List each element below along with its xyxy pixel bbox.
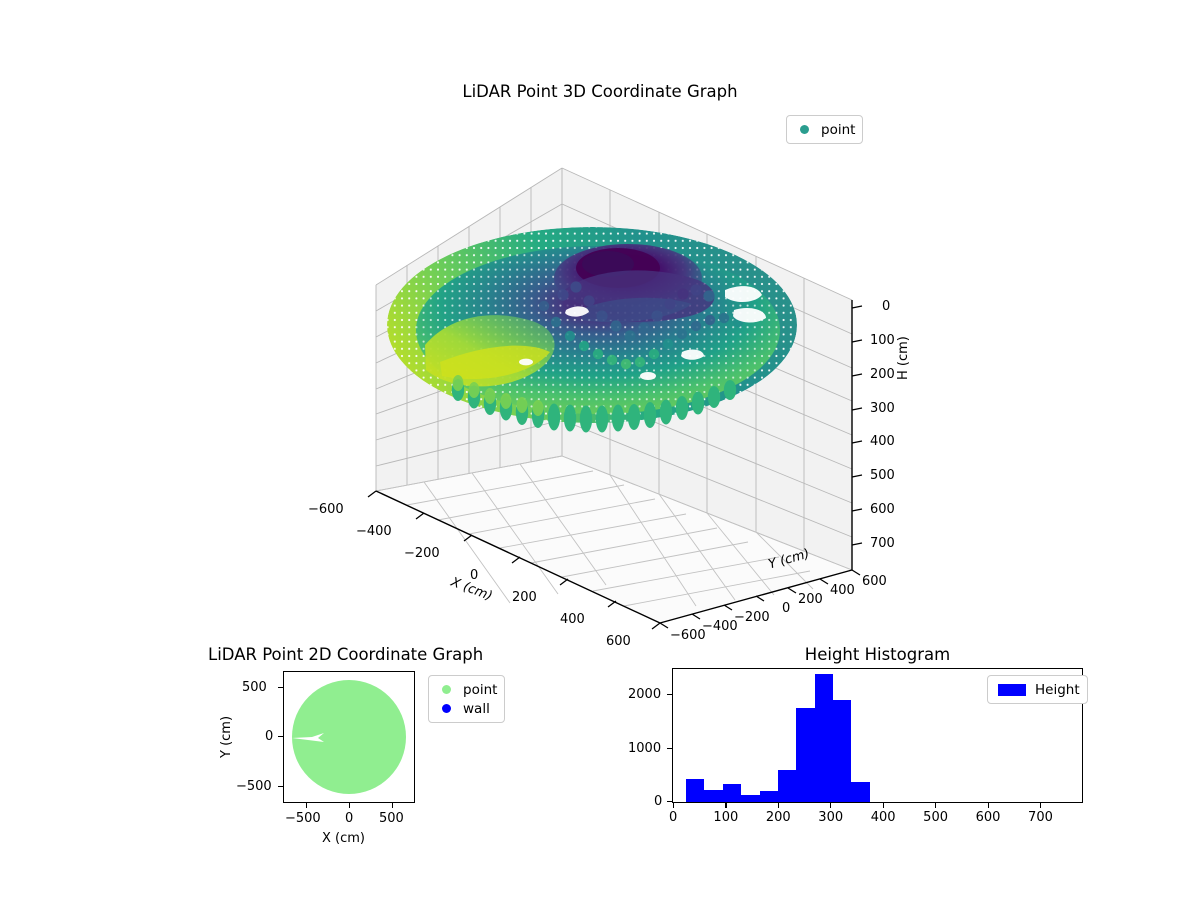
histogram-x-tickmark (988, 803, 989, 808)
histogram-y-tick-label-0: 0 (654, 794, 662, 809)
legend-item-point-2d: point (436, 680, 497, 699)
plot3d-axes[interactable]: −600 −400 −200 0 200 400 600 X (cm) −600… (330, 140, 930, 620)
histogram-bar (815, 674, 833, 802)
z-tick-label-4: 400 (870, 434, 895, 449)
histogram-x-tickmark (725, 803, 726, 808)
histogram-x-tickmark (883, 803, 884, 808)
y-tick-label-0: −600 (670, 628, 706, 643)
y-tick-label-5: 400 (830, 583, 855, 598)
plot2d-axes[interactable] (283, 671, 415, 803)
z-axis-label: H (cm) (896, 336, 911, 380)
histogram-x-tickmark (673, 803, 674, 808)
histogram-x-tick-label: 0 (669, 810, 677, 825)
histogram-x-tick-label: 200 (766, 810, 791, 825)
histogram-x-tick-label: 500 (923, 810, 948, 825)
z-tick-label-3: 300 (870, 401, 895, 416)
histogram-y-tick-label-2: 2000 (628, 687, 661, 702)
plot2d-x-tick-label-2: 500 (379, 811, 404, 826)
plot2d-x-axis-label: X (cm) (322, 831, 365, 846)
plot2d-canvas (284, 672, 414, 802)
histogram-bar (833, 700, 851, 802)
histogram-x-tick-label: 600 (976, 810, 1001, 825)
histogram-x-tickmark (935, 803, 936, 808)
histogram-bar (723, 784, 741, 802)
plot2d-y-tick-label-1: 0 (265, 729, 273, 744)
histogram-x-tick-label: 100 (713, 810, 738, 825)
legend-label-point: point (463, 682, 497, 698)
x-tick-label-2: −200 (404, 546, 440, 561)
plot2d-x-tick-label-0: −500 (285, 811, 321, 826)
z-ticks-3d (852, 306, 862, 545)
z-tick-label-7: 700 (870, 536, 895, 551)
z-tick-label-6: 600 (870, 502, 895, 517)
z-tick-label-2: 200 (870, 367, 895, 382)
legend-marker-point-icon (800, 125, 809, 134)
histogram-bar (760, 791, 778, 802)
y-tick-label-1: −400 (702, 619, 738, 634)
y-tick-label-4: 200 (798, 592, 823, 607)
histogram-bar (741, 795, 759, 802)
legend-label-point: point (821, 122, 855, 138)
histogram-bar (704, 790, 722, 802)
legend-marker-wall-icon (442, 704, 451, 713)
plot2d-y-tick-label-2: 500 (242, 680, 267, 695)
histogram-x-tick-label: 400 (871, 810, 896, 825)
legend-marker-point-icon (442, 685, 451, 694)
legend-label-wall: wall (463, 701, 490, 717)
plot2d-plot-area (284, 672, 414, 802)
plot2d-x-tick-label-1: 0 (345, 811, 353, 826)
y-tick-label-2: −200 (734, 610, 770, 625)
x-tick-label-6: 600 (606, 634, 631, 649)
histogram-y-tick-label-1: 1000 (628, 741, 661, 756)
y-tick-label-3: 0 (782, 601, 790, 616)
histogram-bar (778, 770, 796, 802)
histogram-bar (851, 782, 869, 802)
plot3d-title: LiDAR Point 3D Coordinate Graph (0, 82, 1200, 101)
x-tick-label-0: −600 (308, 502, 344, 517)
plot2d-legend[interactable]: point wall (428, 675, 505, 723)
histogram-x-tick-label: 300 (818, 810, 843, 825)
z-tick-label-0: 0 (882, 299, 890, 314)
z-tick-label-5: 500 (870, 468, 895, 483)
legend-item-wall-2d: wall (436, 699, 497, 718)
plot2d-y-axis-label: Y (cm) (219, 716, 234, 758)
histogram-bar (796, 708, 814, 802)
legend-marker-height-icon (998, 684, 1026, 696)
x-tick-label-1: −400 (356, 524, 392, 539)
x-tick-label-5: 400 (560, 612, 585, 627)
legend-item-point: point (794, 120, 855, 139)
histogram-x-tick-label: 700 (1028, 810, 1053, 825)
legend-item-height: Height (995, 680, 1080, 699)
histogram-legend[interactable]: Height (987, 675, 1088, 704)
histogram-x-tickmark (778, 803, 779, 808)
histogram-bar (686, 779, 704, 802)
plot2d-y-tick-label-0: −500 (236, 779, 272, 794)
histogram-x-tickmark (830, 803, 831, 808)
matplotlib-figure: LiDAR Point 3D Coordinate Graph point (0, 0, 1200, 900)
plot2d-title: LiDAR Point 2D Coordinate Graph (208, 645, 508, 664)
z-tick-label-1: 100 (870, 333, 895, 348)
legend-label-height: Height (1035, 682, 1080, 698)
scatter-points-green (292, 680, 406, 794)
histogram-x-tickmark (1040, 803, 1041, 808)
y-tick-label-6: 600 (862, 574, 887, 589)
x-tick-label-4: 200 (512, 590, 537, 605)
histogram-title: Height Histogram (672, 645, 1083, 664)
